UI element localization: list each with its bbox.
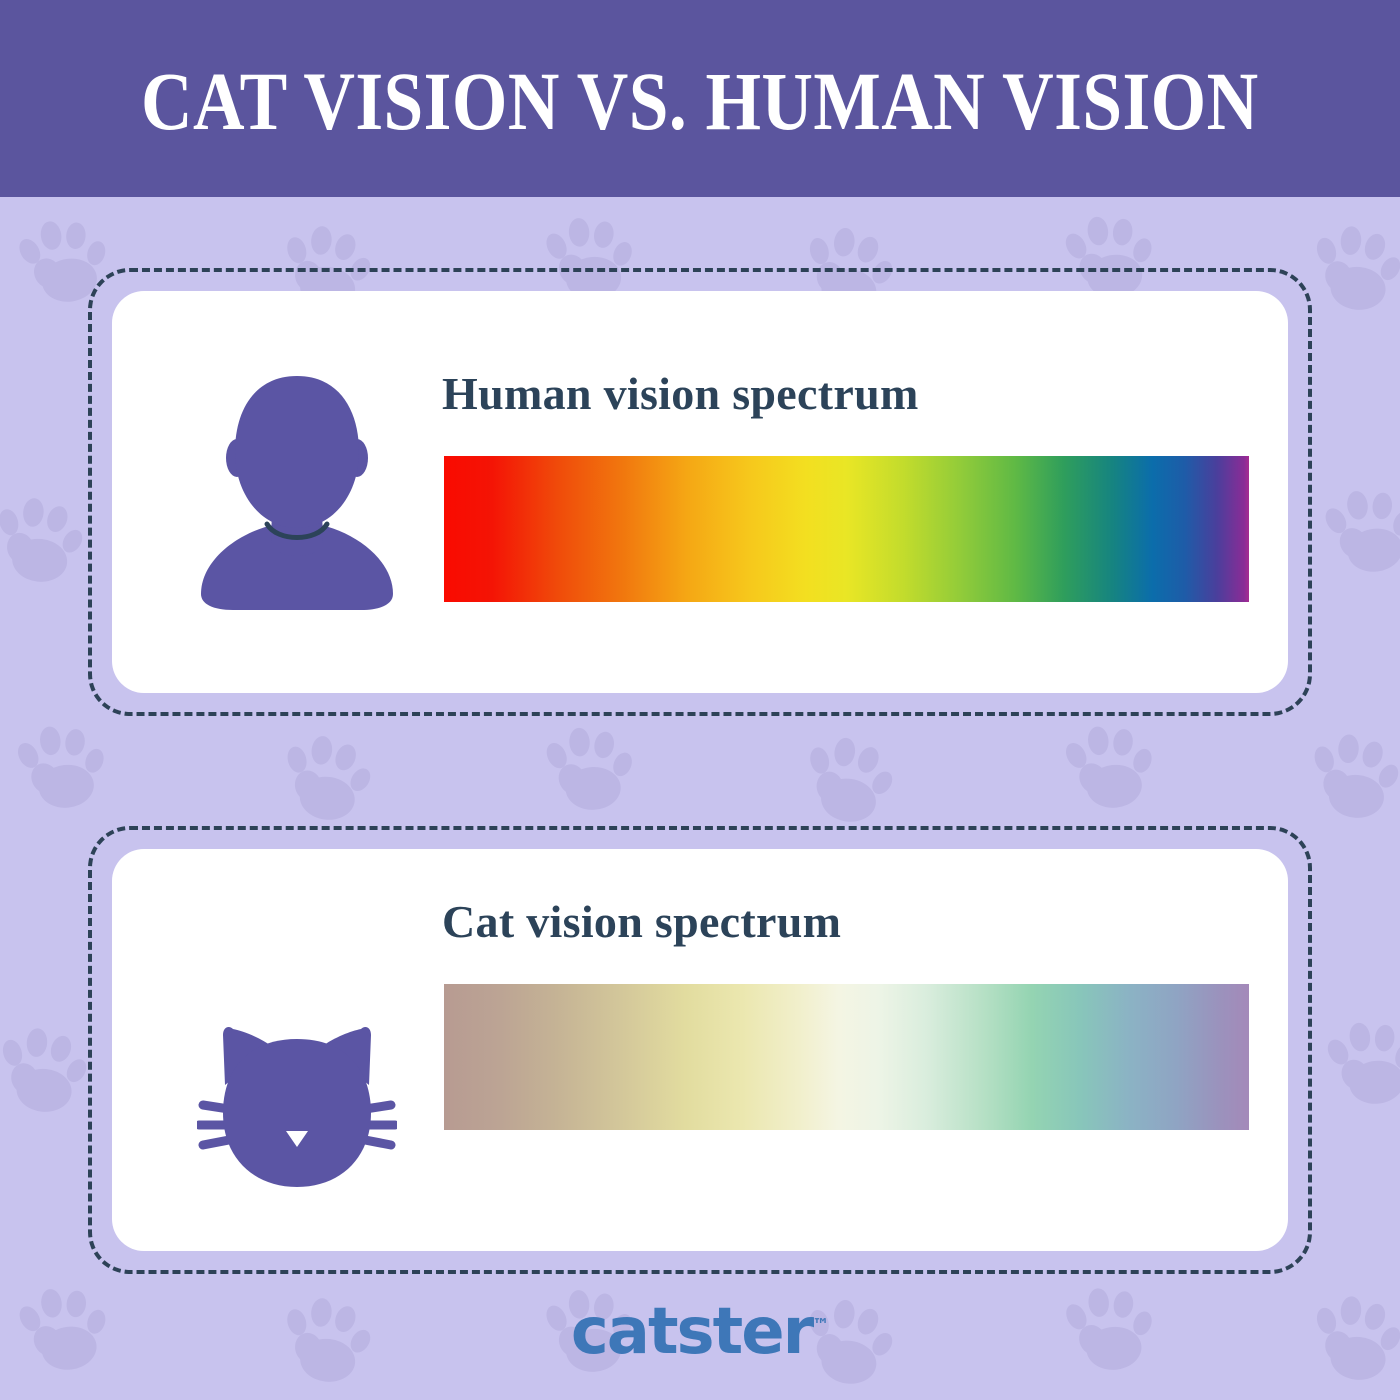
paw-print-icon: [1313, 470, 1400, 585]
paw-print-icon: [1055, 708, 1169, 820]
infographic-root: CAT VISION VS. HUMAN VISION: [0, 0, 1400, 1400]
human-spectrum-label: Human vision spectrum: [442, 367, 919, 420]
cat-vision-panel: Cat vision spectrum: [88, 826, 1312, 1274]
paw-print-icon: [1304, 211, 1400, 322]
paw-print-icon: [0, 1013, 102, 1124]
human-vision-spectrum-bar: [444, 456, 1249, 602]
header-band: CAT VISION VS. HUMAN VISION: [0, 0, 1400, 197]
paw-print-icon: [7, 708, 121, 820]
trademark-mark: ™: [812, 1316, 829, 1336]
footer: catster™: [0, 1300, 1400, 1364]
catster-logo-text: catster: [571, 1295, 812, 1369]
cat-content-slot: Cat vision spectrum: [442, 849, 1268, 1251]
human-icon-slot: [152, 291, 442, 693]
human-vision-panel: Human vision spectrum: [88, 268, 1312, 716]
paw-print-icon: [537, 712, 646, 819]
paw-print-icon: [272, 719, 388, 833]
paw-print-icon: [0, 482, 99, 594]
page-title: CAT VISION VS. HUMAN VISION: [141, 60, 1259, 143]
cat-spectrum-label: Cat vision spectrum: [442, 895, 841, 948]
cat-vision-spectrum-bar: [444, 984, 1249, 1130]
paw-print-icon: [793, 719, 912, 836]
human-avatar-icon: [183, 372, 411, 612]
cat-icon-slot: [152, 907, 442, 1309]
paw-print-icon: [1316, 1003, 1400, 1117]
paw-print-icon: [1303, 719, 1400, 828]
human-content-slot: Human vision spectrum: [442, 291, 1268, 693]
catster-logo[interactable]: catster™: [571, 1300, 829, 1364]
cat-face-icon: [197, 1021, 397, 1196]
